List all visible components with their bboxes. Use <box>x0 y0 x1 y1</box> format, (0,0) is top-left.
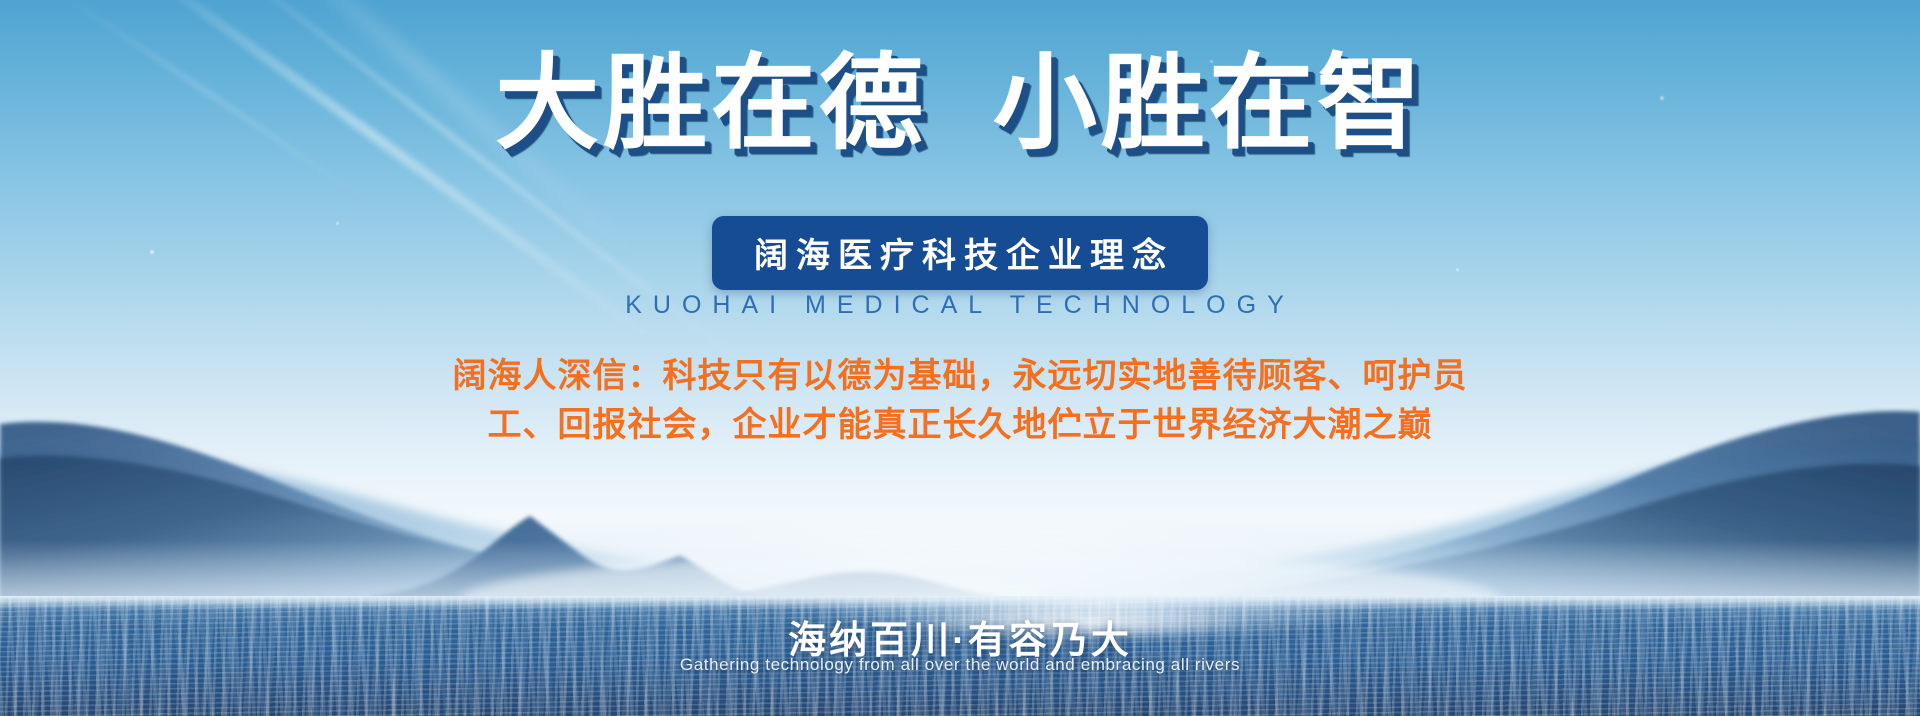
creed-line-2: 工、回报社会，企业才能真正长久地伫立于世界经济大潮之巅 <box>0 401 1920 450</box>
company-motto-english: Gathering technology from all over the w… <box>0 655 1920 675</box>
company-creed: 阔海人深信：科技只有以德为基础，永远切实地善待顾客、呵护员 工、回报社会，企业才… <box>0 352 1920 451</box>
banner-content: 大胜在德 小胜在智 阔海医疗科技企业理念 KUOHAI MEDICAL TECH… <box>0 0 1920 716</box>
page-title: 大胜在德 小胜在智 <box>0 48 1920 160</box>
english-subtitle: KUOHAI MEDICAL TECHNOLOGY <box>0 291 1920 320</box>
company-philosophy-banner: 大胜在德 小胜在智 阔海医疗科技企业理念 KUOHAI MEDICAL TECH… <box>0 0 1920 716</box>
creed-line-1: 阔海人深信：科技只有以德为基础，永远切实地善待顾客、呵护员 <box>0 352 1920 401</box>
status-badge: 阔海医疗科技企业理念 <box>712 216 1208 290</box>
philosophy-badge-container: 阔海医疗科技企业理念 <box>0 216 1920 290</box>
